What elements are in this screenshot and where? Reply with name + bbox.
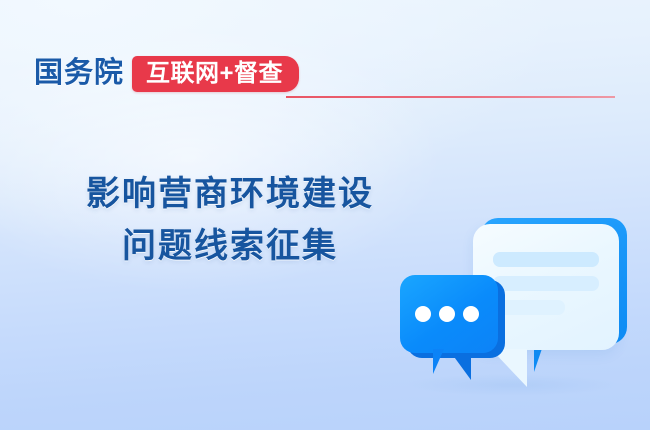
organization-name: 国务院 bbox=[34, 56, 124, 90]
headline: 影响营商环境建设 问题线索征集 bbox=[0, 168, 460, 272]
program-badge: 互联网+督查 bbox=[132, 56, 299, 92]
typing-dot-1-icon bbox=[415, 306, 431, 322]
typing-dot-2-icon bbox=[439, 306, 455, 322]
large-bubble-text-line-1 bbox=[493, 252, 599, 267]
header-divider-rule bbox=[286, 96, 615, 98]
small-bubble-tail-icon bbox=[433, 349, 464, 374]
promo-banner: 国务院 互联网+督查 影响营商环境建设 问题线索征集 bbox=[0, 0, 650, 430]
headline-line-2: 问题线索征集 bbox=[0, 220, 460, 272]
typing-dot-3-icon bbox=[463, 306, 479, 322]
chat-bubbles-illustration bbox=[395, 206, 630, 401]
program-badge-label: 互联网+督查 bbox=[146, 61, 283, 87]
headline-line-1: 影响营商环境建设 bbox=[0, 168, 460, 220]
large-bubble-text-line-2 bbox=[493, 276, 599, 291]
